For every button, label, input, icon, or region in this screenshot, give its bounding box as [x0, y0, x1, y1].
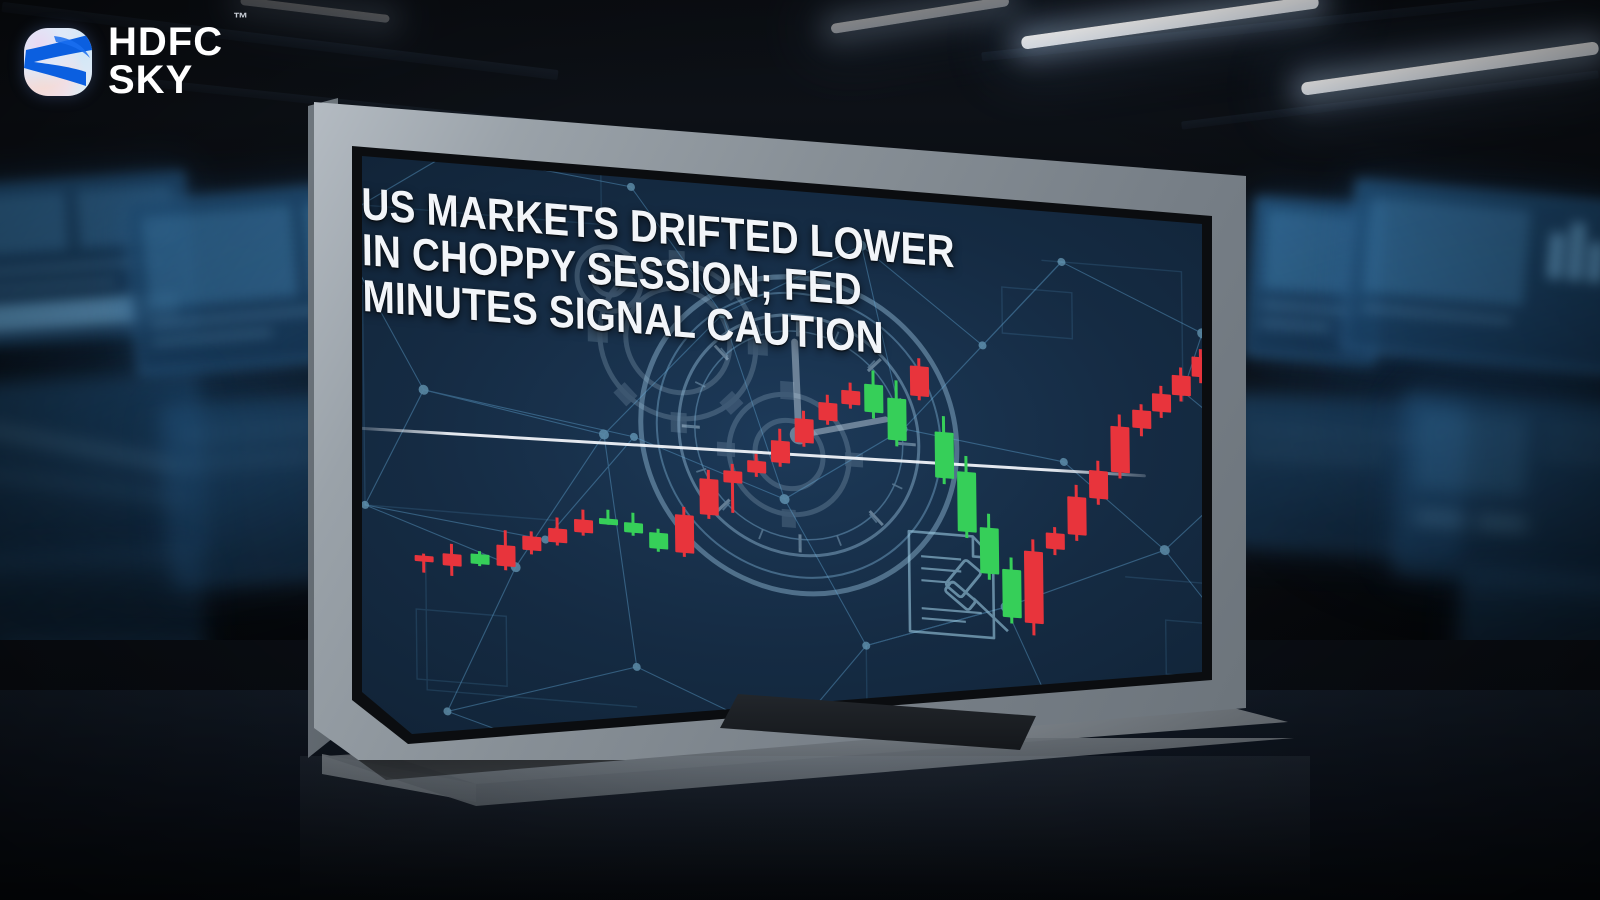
- candlestick-body: [598, 518, 617, 526]
- candlestick-body: [1132, 410, 1151, 430]
- candlestick: [649, 528, 668, 553]
- candlestick: [1002, 557, 1022, 625]
- candlestick-body: [496, 545, 515, 568]
- candlestick-body: [1110, 426, 1130, 474]
- candlestick: [522, 531, 541, 556]
- candlestick: [548, 517, 567, 547]
- candlestick-body: [794, 418, 813, 444]
- candlestick-body: [442, 553, 461, 567]
- candlestick: [1023, 539, 1043, 637]
- candlestick: [573, 509, 592, 537]
- candlestick-body: [674, 514, 693, 554]
- candlestick: [414, 553, 433, 574]
- candlestick-body: [770, 440, 789, 464]
- candlestick: [1088, 460, 1108, 506]
- candlestick-body: [1171, 375, 1190, 397]
- candlestick: [496, 530, 515, 572]
- candlestick-body: [623, 522, 642, 534]
- brand-logo[interactable]: HDFC SKY ™: [24, 24, 223, 99]
- candlestick: [818, 394, 837, 426]
- candlestick: [747, 453, 766, 478]
- candlestick: [794, 410, 813, 448]
- candlestick-body: [979, 527, 999, 575]
- candlestick-body: [649, 532, 668, 550]
- candlestick-body: [470, 553, 489, 565]
- screenshot-stage: HDFC SKY ™: [0, 0, 1600, 900]
- candlestick-body: [747, 460, 766, 474]
- brand-line-1: HDFC: [108, 24, 223, 62]
- candlestick-body: [934, 431, 954, 479]
- candlestick: [1067, 484, 1087, 542]
- candlestick-body: [522, 536, 541, 552]
- candlestick: [1151, 385, 1170, 419]
- candlestick-body: [1045, 532, 1064, 550]
- background-monitor: [1394, 392, 1600, 588]
- candlestick: [598, 509, 617, 526]
- candlestick: [623, 512, 642, 537]
- candlestick-body: [699, 478, 718, 516]
- brand-wordmark: HDFC SKY ™: [108, 24, 223, 99]
- candlestick-body: [574, 519, 593, 534]
- desk-reflection-band: [300, 756, 1310, 900]
- candlestick: [1132, 404, 1151, 438]
- trademark-symbol: ™: [233, 12, 249, 26]
- background-monitor: [1341, 178, 1600, 374]
- candlestick-body: [1067, 496, 1086, 536]
- candlestick-body: [414, 555, 433, 563]
- candlestick: [1045, 526, 1064, 556]
- brand-line-2: SKY: [108, 62, 223, 100]
- candlestick: [887, 380, 907, 448]
- candlestick-body: [818, 402, 837, 422]
- candlestick-body: [909, 365, 928, 397]
- candlestick-body: [1088, 470, 1107, 500]
- candlestick-body: [841, 390, 860, 406]
- candlestick-body: [864, 384, 883, 414]
- candlestick: [934, 415, 954, 485]
- candlestick: [956, 455, 976, 539]
- candlestick: [841, 382, 860, 410]
- candlestick: [979, 513, 999, 581]
- candlestick-body: [887, 398, 907, 442]
- candlestick-body: [723, 470, 742, 484]
- monitor: US MARKETS DRIFTED LOWER IN CHOPPY SESSI…: [300, 80, 1300, 760]
- candlestick-body: [1151, 393, 1170, 413]
- candlestick-body: [957, 471, 977, 533]
- candlestick-body: [1023, 551, 1043, 625]
- candlestick-body: [548, 528, 567, 544]
- candlestick: [863, 370, 883, 420]
- candlestick: [723, 463, 743, 514]
- candlestick: [442, 543, 461, 577]
- candlestick: [770, 428, 789, 468]
- candlestick: [1171, 367, 1190, 403]
- candlestick-body: [1002, 569, 1022, 619]
- candlestick: [470, 550, 489, 567]
- candlestick: [1110, 414, 1130, 480]
- candlestick: [674, 506, 694, 558]
- hdfc-sky-swoosh-icon: [24, 28, 92, 96]
- candlestick: [699, 469, 719, 520]
